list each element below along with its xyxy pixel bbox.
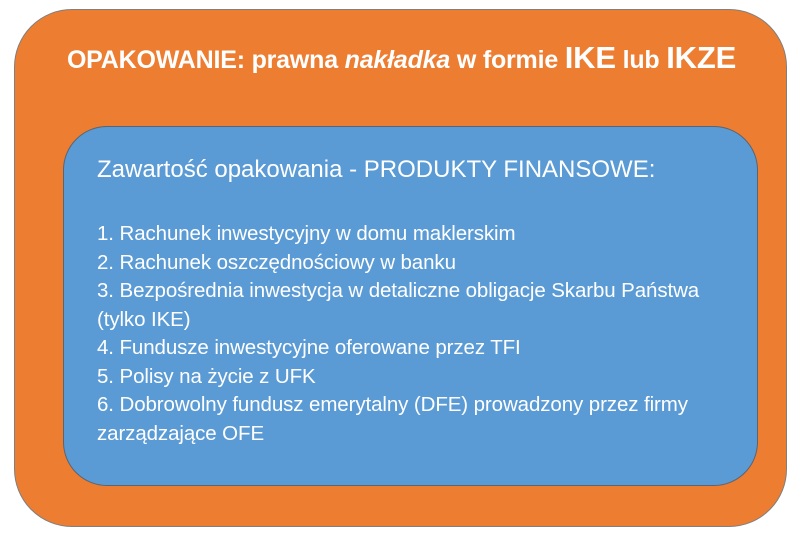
title-segment-3: w formie [450,46,565,74]
title-segment-ike: IKE [565,40,616,75]
inner-container-content: Zawartość opakowania - PRODUKTY FINANSOW… [97,155,722,448]
inner-blue-container: Zawartość opakowania - PRODUKTY FINANSOW… [63,126,758,486]
list-item: 6. Dobrowolny fundusz emerytalny (DFE) p… [97,391,722,448]
title-segment-1: OPAKOWANIE: prawna [67,46,345,74]
diagram-canvas: OPAKOWANIE: prawna nakładka w formie IKE… [0,0,801,543]
inner-container-heading: Zawartość opakowania - PRODUKTY FINANSOW… [97,155,722,185]
outer-container-title: OPAKOWANIE: prawna nakładka w formie IKE… [15,43,788,75]
list-item: 5. Polisy na życie z UFK [97,363,722,392]
list-item: 2. Rachunek oszczędnościowy w banku [97,249,722,278]
outer-orange-container: OPAKOWANIE: prawna nakładka w formie IKE… [14,9,787,527]
list-item: 3. Bezpośrednia inwestycja w detaliczne … [97,277,722,334]
list-item: 1. Rachunek inwestycyjny w domu maklersk… [97,220,722,249]
list-item: 4. Fundusze inwestycyjne oferowane przez… [97,334,722,363]
title-segment-lub: lub [616,46,666,74]
financial-products-list: 1. Rachunek inwestycyjny w domu maklersk… [97,220,722,448]
title-segment-nakladka: nakładka [345,46,450,74]
title-segment-ikze: IKZE [666,40,736,75]
